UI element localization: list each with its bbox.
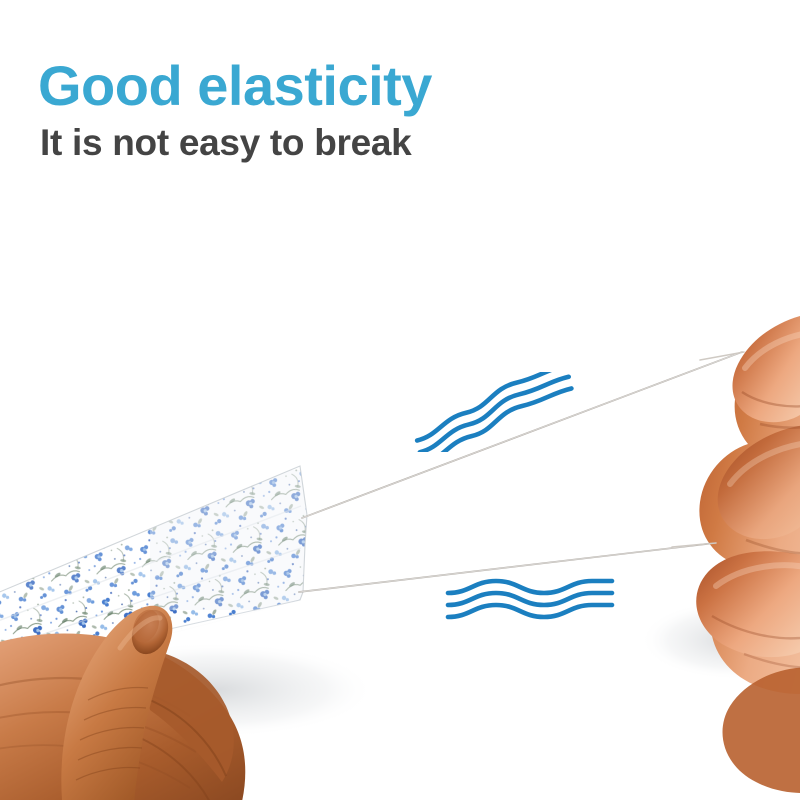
- wave-decoration-bottom: [440, 575, 620, 635]
- page-subtitle: It is not easy to break: [40, 124, 411, 161]
- promo-banner: Good elasticity It is not easy to break: [0, 0, 800, 800]
- wave-decoration-top: [405, 372, 605, 452]
- page-title: Good elasticity: [38, 58, 432, 114]
- right-hand: [696, 312, 800, 793]
- scene-illustration: [0, 0, 800, 800]
- product-photo: [0, 0, 800, 800]
